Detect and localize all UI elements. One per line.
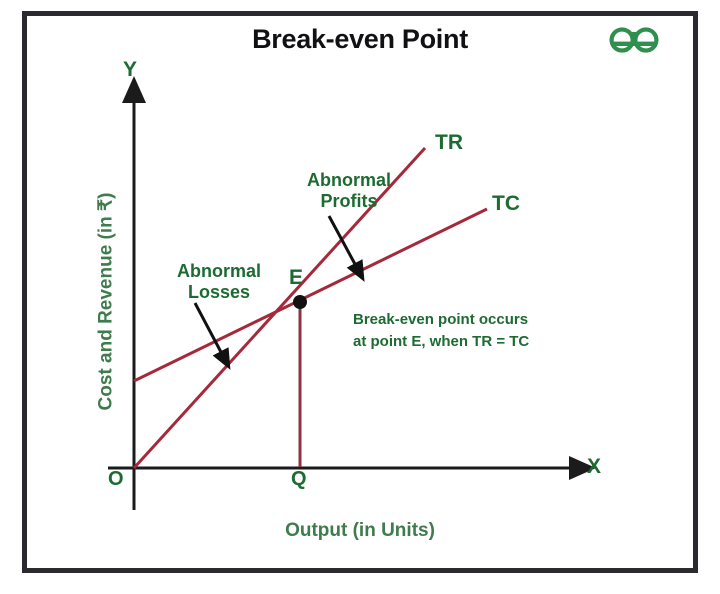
y-axis-title: Cost and Revenue (in ₹) — [95, 142, 118, 462]
x-axis-letter: X — [587, 455, 601, 480]
abnormal-losses-line2: Losses — [164, 282, 274, 303]
breakeven-note: Break-even point occurs at point E, when… — [353, 309, 529, 353]
abnormal-losses-annotation: Abnormal Losses — [164, 261, 274, 303]
abnormal-profits-line1: Abnormal — [294, 170, 404, 191]
breakeven-note-line2: at point E, when TR = TC — [353, 331, 529, 353]
x-axis-title: Output (in Units) — [150, 520, 570, 542]
breakeven-quantity-label: Q — [291, 468, 307, 492]
origin-label: O — [108, 468, 124, 492]
abnormal-profits-arrow — [329, 216, 356, 266]
total-cost-label: TC — [492, 192, 520, 217]
y-axis-letter: Y — [123, 58, 137, 83]
total-revenue-label: TR — [435, 131, 463, 156]
abnormal-losses-line1: Abnormal — [164, 261, 274, 282]
breakeven-point-marker — [293, 295, 307, 309]
breakeven-point-label: E — [289, 266, 303, 291]
breakeven-chart-figure: Break-even Point — [0, 0, 720, 594]
breakeven-note-line1: Break-even point occurs — [353, 309, 529, 331]
abnormal-profits-line2: Profits — [294, 191, 404, 212]
abnormal-profits-annotation: Abnormal Profits — [294, 170, 404, 212]
